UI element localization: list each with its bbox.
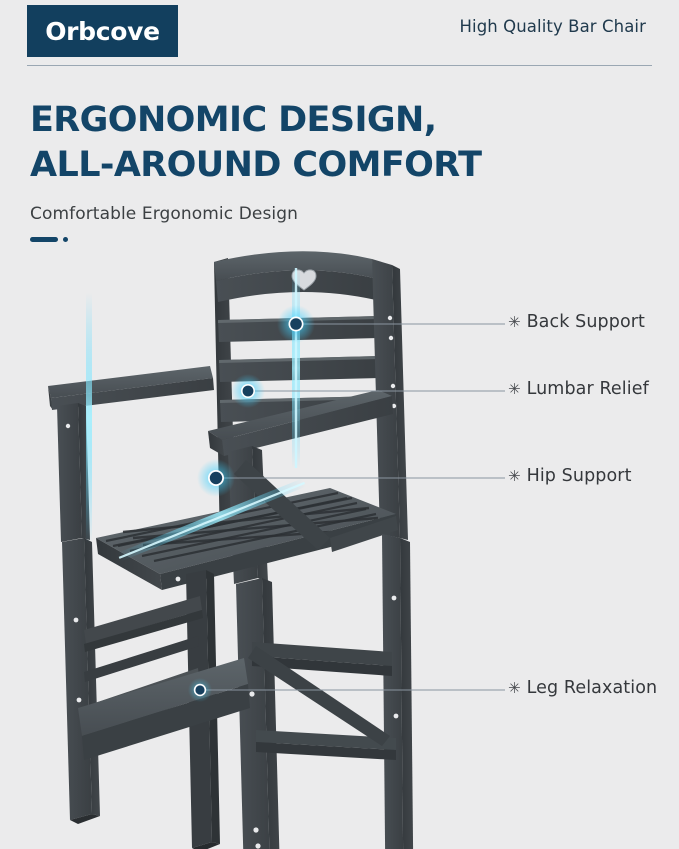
- callout-label-leg-relaxation: Leg Relaxation: [527, 678, 658, 698]
- callout-hip-support: ✳ Hip Support: [508, 466, 632, 486]
- callout-label-lumbar-relief: Lumbar Relief: [527, 379, 649, 399]
- asterisk-icon: ✳: [508, 382, 521, 397]
- infographic-page: Orbcove High Quality Bar Chair ERGONOMIC…: [0, 0, 679, 849]
- callout-label-hip-support: Hip Support: [527, 466, 632, 486]
- callout-back-support: ✳ Back Support: [508, 312, 645, 332]
- glow-beams: [86, 293, 92, 543]
- title-block: ERGONOMIC DESIGN, ALL-AROUND COMFORT Com…: [30, 98, 650, 242]
- callout-label-back-support: Back Support: [527, 312, 645, 332]
- callout-lumbar-relief: ✳ Lumbar Relief: [508, 379, 649, 399]
- asterisk-icon: ✳: [508, 681, 521, 696]
- chair-left-armrest: [48, 366, 214, 542]
- beam-vertical: [292, 268, 300, 468]
- page-subtitle: Comfortable Ergonomic Design: [30, 204, 650, 224]
- header-tagline: High Quality Bar Chair: [460, 17, 647, 36]
- callout-leg-relaxation: ✳ Leg Relaxation: [508, 678, 657, 698]
- asterisk-icon: ✳: [508, 315, 521, 330]
- header-divider: [27, 65, 652, 66]
- page-title: ERGONOMIC DESIGN, ALL-AROUND COMFORT: [30, 98, 650, 188]
- brand-logo-text: Orbcove: [45, 17, 160, 46]
- asterisk-icon: ✳: [508, 469, 521, 484]
- page-header: Orbcove High Quality Bar Chair: [0, 0, 679, 72]
- brand-logo: Orbcove: [27, 5, 178, 57]
